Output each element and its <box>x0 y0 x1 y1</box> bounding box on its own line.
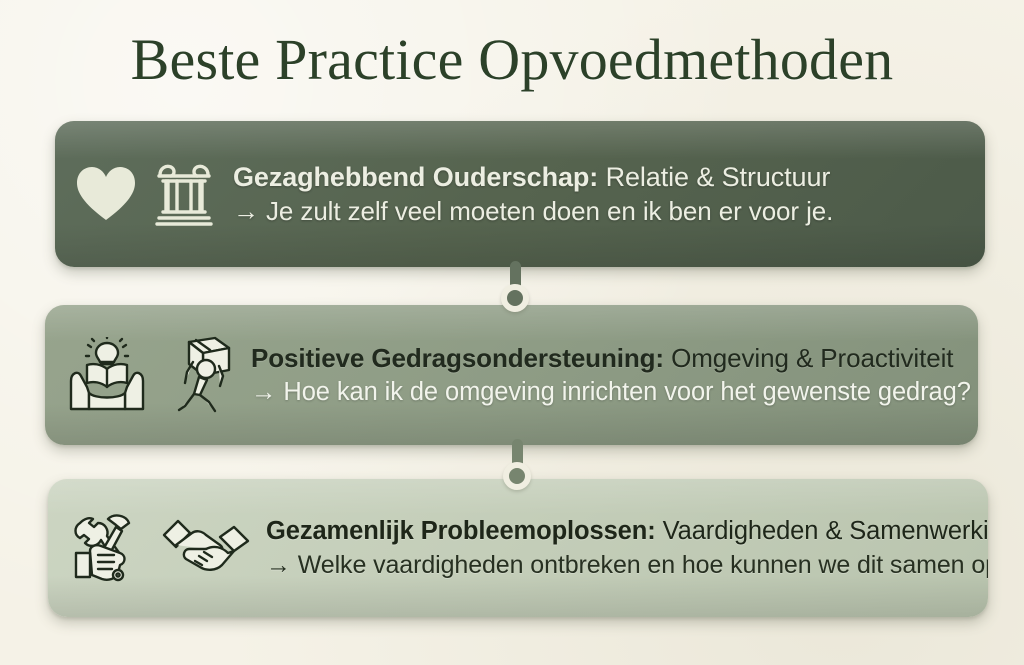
card-1-text: Gezaghebbend Ouderschap: Relatie & Struc… <box>233 161 985 228</box>
card-3-heading-strong: Gezamenlijk Probleemoplossen: <box>266 517 656 545</box>
card-2-icon-group <box>65 336 235 414</box>
card-2-heading-rest: Omgeving & Proactiviteit <box>664 343 953 373</box>
card-2-text: Positieve Gedragsondersteuning: Omgeving… <box>251 342 978 409</box>
hands-holding-book-lightbulb-icon <box>65 337 149 413</box>
card-gezaghebbend-ouderschap[interactable]: Gezaghebbend Ouderschap: Relatie & Struc… <box>55 121 985 267</box>
card-1-subline: → Je zult zelf veel moeten doen en ik be… <box>233 194 985 228</box>
card-2-sub-text: Hoe kan ik de omgeving inrichten voor he… <box>276 378 970 406</box>
card-2-subline: → Hoe kan ik de omgeving inrichten voor … <box>251 375 978 409</box>
card-3-sub-text: Welke vaardigheden ontbreken en hoe kunn… <box>291 551 988 579</box>
heart-icon <box>75 165 137 223</box>
connector-card1-card2 <box>492 261 538 312</box>
handshake-icon <box>162 515 250 581</box>
arrow-right-icon: → <box>233 196 259 226</box>
connector-2-node <box>503 462 531 490</box>
hand-holding-tools-icon <box>68 511 148 585</box>
person-carrying-box-icon <box>163 336 235 414</box>
card-1-heading-rest: Relatie & Structuur <box>598 162 830 192</box>
page-title: Beste Practice Opvoedmethoden <box>0 26 1024 94</box>
card-3-subline: → Welke vaardigheden ontbreken en hoe ku… <box>266 548 988 582</box>
card-1-heading-strong: Gezaghebbend Ouderschap: <box>233 162 598 192</box>
connector-1-node <box>501 284 529 312</box>
card-1-sub-text: Je zult zelf veel moeten doen en ik ben … <box>259 196 833 226</box>
card-3-icon-group <box>68 511 250 585</box>
card-3-text: Gezamenlijk Probleemoplossen: Vaardighed… <box>266 515 988 582</box>
arrow-right-icon: → <box>251 378 276 406</box>
card-1-icon-group <box>75 159 217 229</box>
card-2-heading-strong: Positieve Gedragsondersteuning: <box>251 343 664 373</box>
card-1-heading: Gezaghebbend Ouderschap: Relatie & Struc… <box>233 161 985 194</box>
card-positieve-gedragsondersteuning[interactable]: Positieve Gedragsondersteuning: Omgeving… <box>45 305 978 445</box>
infographic-root: Beste Practice Opvoedmethoden <box>0 0 1024 665</box>
card-2-heading: Positieve Gedragsondersteuning: Omgeving… <box>251 342 978 375</box>
classical-column-icon <box>151 159 217 229</box>
card-gezamenlijk-probleemoplossen[interactable]: Gezamenlijk Probleemoplossen: Vaardighed… <box>48 479 988 617</box>
card-3-heading-rest: Vaardigheden & Samenwerking <box>656 517 988 545</box>
connector-card2-card3 <box>494 439 540 490</box>
arrow-right-icon: → <box>266 551 291 579</box>
card-3-heading: Gezamenlijk Probleemoplossen: Vaardighed… <box>266 515 988 548</box>
